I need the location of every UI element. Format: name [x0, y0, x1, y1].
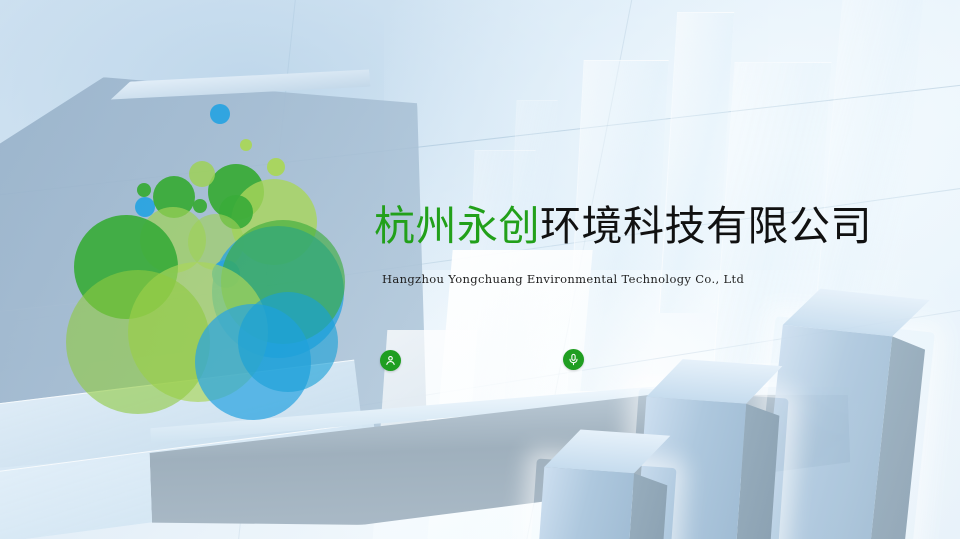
user-icon[interactable]	[380, 350, 401, 371]
logo-circle	[66, 270, 210, 414]
logo-circle	[137, 183, 151, 197]
title-highlight: 杭州永创	[374, 203, 540, 249]
page-title: 杭州永创环境科技有限公司	[374, 202, 904, 250]
logo-circle	[267, 158, 285, 176]
logo-circle	[189, 161, 215, 187]
logo-circle	[240, 139, 252, 151]
bar-front-face	[536, 467, 634, 539]
title-text-block: 杭州永创环境科技有限公司 Hangzhou Yongchuang Environ…	[374, 202, 904, 286]
user-glyph	[384, 354, 397, 367]
logo-circle	[210, 104, 230, 124]
logo-circle	[193, 199, 207, 213]
page-subtitle: Hangzhou Yongchuang Environmental Techno…	[382, 272, 904, 286]
microphone-glyph	[567, 353, 580, 366]
company-logo	[78, 92, 358, 422]
logo-circle	[238, 292, 338, 392]
microphone-icon[interactable]	[563, 349, 584, 370]
title-rest: 环境科技有限公司	[540, 203, 872, 249]
title-slide: 杭州永创环境科技有限公司 Hangzhou Yongchuang Environ…	[0, 0, 960, 539]
background-3d-bar	[536, 467, 634, 539]
